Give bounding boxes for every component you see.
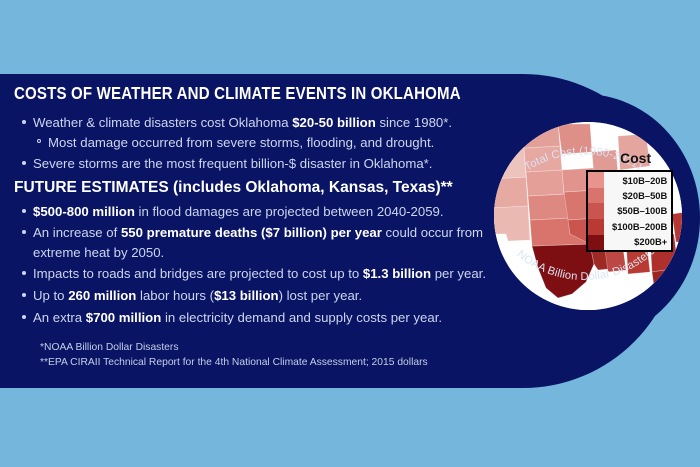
bullet-text: An extra $700 million in electricity dem… [33, 310, 442, 325]
current-costs-section: Weather & climate disasters cost Oklahom… [18, 112, 488, 174]
footnote: **EPA CIRAII Technical Report for the 4t… [40, 355, 428, 370]
future-estimates-subheading: FUTURE ESTIMATES (includes Oklahoma, Kan… [14, 179, 453, 197]
bullet-text: Weather & climate disasters cost Oklahom… [33, 115, 452, 130]
legend-swatch [588, 172, 604, 188]
legend-swatch [588, 219, 604, 235]
bullet-text: Severe storms are the most frequent bill… [33, 156, 432, 171]
map-state-nebraska [526, 170, 564, 196]
map-state-colorado [494, 177, 528, 208]
future-estimates-list: $500-800 million in flood damages are pr… [18, 202, 496, 328]
footnote: *NOAA Billion Dollar Disasters [40, 340, 428, 355]
current-costs-list: Weather & climate disasters cost Oklahom… [18, 113, 488, 173]
bullet-text: $500-800 million in flood damages are pr… [33, 204, 444, 219]
legend-box: $10B–20B$20B–50B$50B–100B$100B–200B$200B… [586, 170, 673, 252]
bullet-item: An increase of 550 premature deaths ($7 … [18, 223, 496, 262]
bullet-item: An extra $700 million in electricity dem… [18, 308, 496, 327]
map-state-wyoming [494, 148, 526, 179]
bullet-item: $500-800 million in flood damages are pr… [18, 202, 496, 221]
footnotes: *NOAA Billion Dollar Disasters**EPA CIRA… [40, 340, 428, 371]
legend-swatch [588, 235, 604, 251]
legend-labels: $10B–20B$20B–50B$50B–100B$100B–200B$200B… [604, 172, 671, 250]
legend-label: $100B–200B [612, 219, 667, 234]
map-medallion: Total Cost (1980-2021) NOAA Billion Doll… [468, 94, 700, 342]
map-state-minnesota [558, 124, 592, 154]
legend-swatch [588, 188, 604, 204]
map-state-kansas [528, 194, 568, 220]
legend-label: $10B–20B [612, 173, 667, 188]
bullet-item: Severe storms are the most frequent bill… [18, 154, 488, 173]
bullet-item: Up to 260 million labor hours ($13 billi… [18, 286, 496, 305]
legend-label: $20B–50B [612, 188, 667, 203]
bullet-item: Weather & climate disasters cost Oklahom… [18, 113, 488, 153]
legend-label: $50B–100B [612, 203, 667, 218]
legend-title: Cost [620, 150, 651, 166]
bullet-text: An increase of 550 premature deaths ($7 … [33, 225, 483, 259]
map-state-north-dakota [522, 124, 560, 148]
bullet-item: Impacts to roads and bridges are project… [18, 264, 496, 283]
infographic-root: COSTS OF WEATHER AND CLIMATE EVENTS IN O… [0, 0, 700, 467]
legend-swatches [588, 172, 604, 250]
legend-label: $200B+ [612, 234, 667, 249]
legend-swatch [588, 203, 604, 219]
bullet-text: Impacts to roads and bridges are project… [33, 266, 486, 281]
sub-bullet-list: Most damage occurred from severe storms,… [33, 133, 488, 152]
map-state-south-dakota [524, 146, 562, 172]
future-estimates-section: $500-800 million in flood damages are pr… [18, 199, 496, 330]
bullet-text: Up to 260 million labor hours ($13 billi… [33, 288, 362, 303]
cost-legend: Cost $10B–20B$20B–50B$50B–100B$100B–200B… [586, 170, 673, 252]
sub-bullet-item: Most damage occurred from severe storms,… [33, 133, 488, 152]
page-title: COSTS OF WEATHER AND CLIMATE EVENTS IN O… [14, 83, 461, 104]
